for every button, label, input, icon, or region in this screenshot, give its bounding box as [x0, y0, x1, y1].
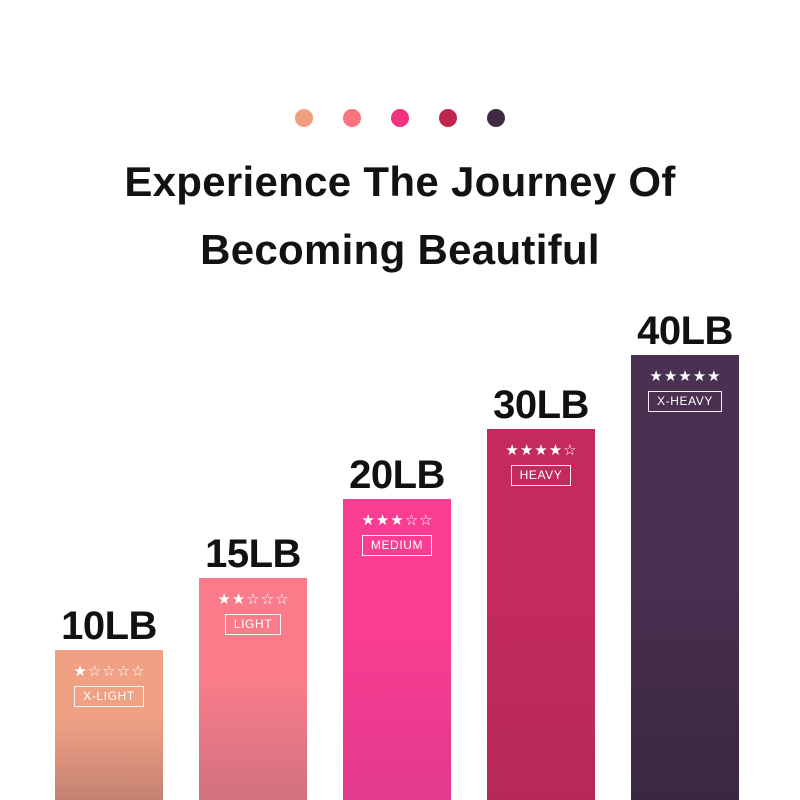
bar-weight-label: 15LB [199, 532, 307, 576]
star-empty-icon: ☆ [246, 592, 259, 607]
bar-rating-block: ★★★☆☆MEDIUM [343, 513, 451, 556]
star-empty-icon: ☆ [88, 664, 101, 679]
star-filled-icon: ★ [534, 443, 547, 458]
star-empty-icon: ☆ [275, 592, 288, 607]
level-badge: X-HEAVY [648, 391, 722, 412]
bar-weight-label: 30LB [487, 383, 595, 427]
bar-weight-label: 10LB [55, 604, 163, 648]
star-filled-icon: ★ [520, 443, 533, 458]
star-empty-icon: ☆ [405, 513, 418, 528]
star-filled-icon: ★ [505, 443, 518, 458]
bar-weight-label: 20LB [343, 453, 451, 497]
star-filled-icon: ★ [217, 592, 230, 607]
bar-group-medium[interactable]: 20LB★★★☆☆MEDIUM [343, 499, 451, 800]
resistance-level-bar-chart: 10LB★☆☆☆☆X-LIGHT15LB★★☆☆☆LIGHT20LB★★★☆☆M… [0, 0, 800, 800]
star-filled-icon: ★ [376, 513, 389, 528]
bar-group-light[interactable]: 15LB★★☆☆☆LIGHT [199, 578, 307, 800]
star-empty-icon: ☆ [131, 664, 144, 679]
bar-body[interactable]: ★☆☆☆☆X-LIGHT [55, 650, 163, 800]
bar-group-heavy[interactable]: 30LB★★★★☆HEAVY [487, 429, 595, 800]
infographic-canvas: Experience The Journey Of Becoming Beaut… [0, 0, 800, 800]
star-empty-icon: ☆ [563, 443, 576, 458]
star-empty-icon: ☆ [261, 592, 274, 607]
star-filled-icon: ★ [664, 369, 677, 384]
star-rating: ★★★★☆ [505, 443, 576, 458]
bar-weight-label: 40LB [631, 309, 739, 353]
star-empty-icon: ☆ [419, 513, 432, 528]
bar-body[interactable]: ★★★☆☆MEDIUM [343, 499, 451, 800]
star-filled-icon: ★ [549, 443, 562, 458]
star-filled-icon: ★ [649, 369, 662, 384]
star-filled-icon: ★ [232, 592, 245, 607]
level-badge: X-LIGHT [74, 686, 144, 707]
bar-rating-block: ★☆☆☆☆X-LIGHT [55, 664, 163, 707]
level-badge: LIGHT [225, 614, 281, 635]
star-filled-icon: ★ [73, 664, 86, 679]
star-rating: ★★★★★ [649, 369, 720, 384]
bar-rating-block: ★★☆☆☆LIGHT [199, 592, 307, 635]
bar-body[interactable]: ★★☆☆☆LIGHT [199, 578, 307, 800]
star-filled-icon: ★ [678, 369, 691, 384]
star-filled-icon: ★ [693, 369, 706, 384]
bar-rating-block: ★★★★★X-HEAVY [631, 369, 739, 412]
bar-group-x-light[interactable]: 10LB★☆☆☆☆X-LIGHT [55, 650, 163, 800]
bar-body[interactable]: ★★★★☆HEAVY [487, 429, 595, 800]
star-rating: ★☆☆☆☆ [73, 664, 144, 679]
bar-fill [631, 355, 739, 800]
bar-body[interactable]: ★★★★★X-HEAVY [631, 355, 739, 800]
star-empty-icon: ☆ [102, 664, 115, 679]
level-badge: HEAVY [511, 465, 572, 486]
star-empty-icon: ☆ [117, 664, 130, 679]
bar-group-x-heavy[interactable]: 40LB★★★★★X-HEAVY [631, 355, 739, 800]
star-filled-icon: ★ [390, 513, 403, 528]
star-filled-icon: ★ [361, 513, 374, 528]
star-filled-icon: ★ [707, 369, 720, 384]
level-badge: MEDIUM [362, 535, 432, 556]
star-rating: ★★★☆☆ [361, 513, 432, 528]
star-rating: ★★☆☆☆ [217, 592, 288, 607]
bar-rating-block: ★★★★☆HEAVY [487, 443, 595, 486]
